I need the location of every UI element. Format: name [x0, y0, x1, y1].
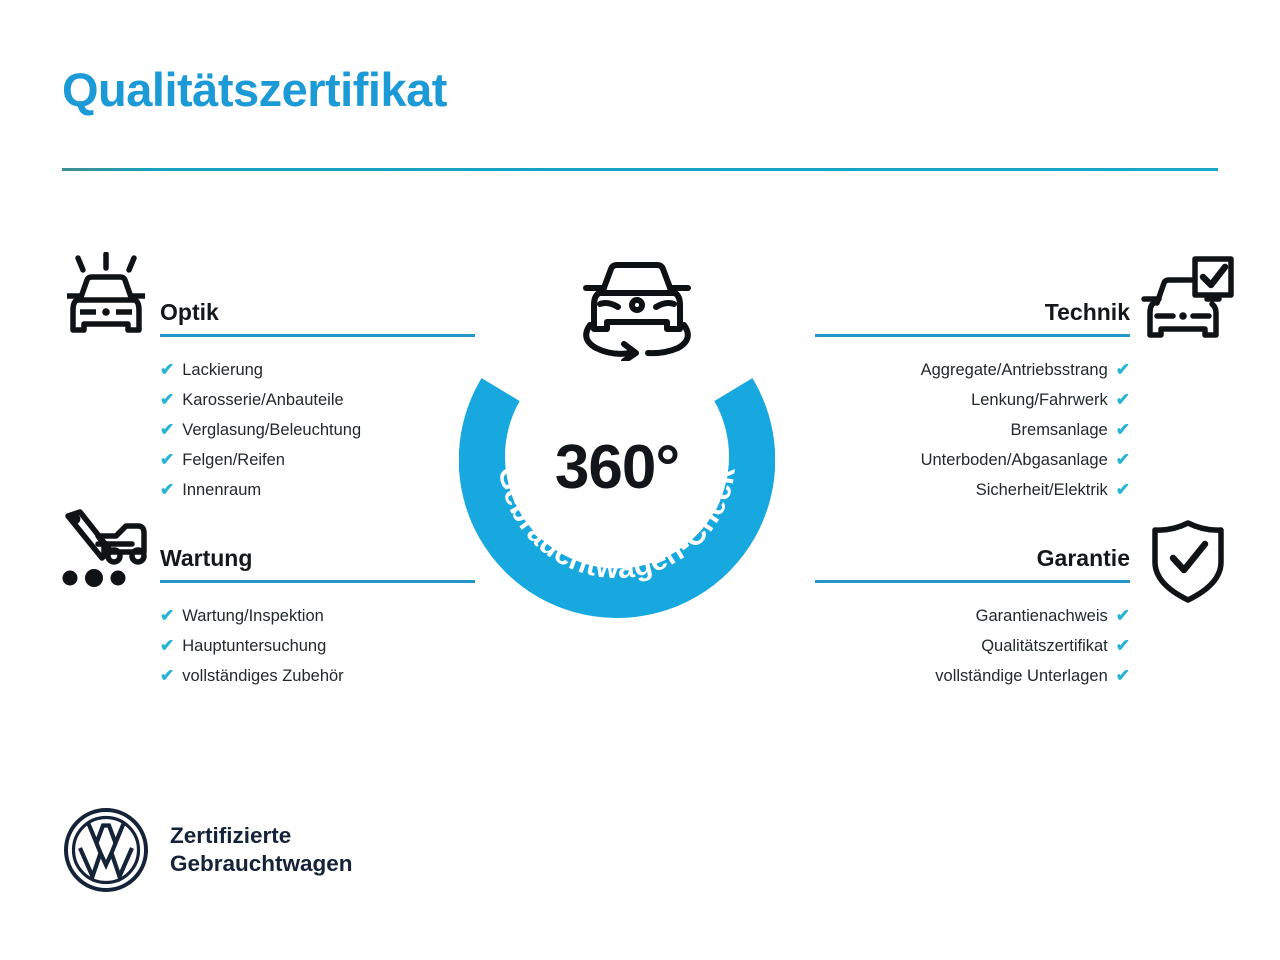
list-item-label: Hauptuntersuchung	[182, 631, 326, 661]
list-item-label: Felgen/Reifen	[182, 445, 285, 475]
check-icon: ✔	[1116, 601, 1130, 631]
check-icon: ✔	[160, 475, 174, 505]
list-item-label: Unterboden/Abgasanlage	[921, 445, 1108, 475]
section-divider	[815, 334, 1130, 337]
section-optik: Optik ✔Lackierung ✔Karosserie/Anbauteile…	[160, 300, 475, 521]
check-icon: ✔	[1116, 415, 1130, 445]
list-item: ✔Lackierung	[160, 355, 475, 385]
footer-brand-text: Zertifizierte Gebrauchtwagen	[170, 822, 353, 878]
check-icon: ✔	[1116, 445, 1130, 475]
list-item: ✔Karosserie/Anbauteile	[160, 385, 475, 415]
section-technik: Technik Aggregate/Antriebsstrang✔ Lenkun…	[815, 300, 1130, 521]
list-item: ✔vollständiges Zubehör	[160, 661, 475, 691]
list-item: Aggregate/Antriebsstrang✔	[815, 355, 1130, 385]
section-divider	[160, 334, 475, 337]
list-item-label: Innenraum	[182, 475, 261, 505]
list-item: ✔Verglasung/Beleuchtung	[160, 415, 475, 445]
car-checkbox-icon	[1139, 255, 1235, 352]
checklist-technik: Aggregate/Antriebsstrang✔ Lenkung/Fahrwe…	[815, 355, 1130, 505]
list-item: Garantienachweis✔	[815, 601, 1130, 631]
check-icon: ✔	[160, 631, 174, 661]
footer-brand: Zertifizierte Gebrauchtwagen	[62, 806, 150, 899]
volkswagen-logo	[62, 806, 150, 894]
list-item: Lenkung/Fahrwerk✔	[815, 385, 1130, 415]
section-heading: Garantie	[815, 546, 1130, 571]
checklist-optik: ✔Lackierung ✔Karosserie/Anbauteile ✔Verg…	[160, 355, 475, 505]
list-item-label: Karosserie/Anbauteile	[182, 385, 343, 415]
checklist-wartung: ✔Wartung/Inspektion ✔Hauptuntersuchung ✔…	[160, 601, 475, 691]
list-item: ✔Innenraum	[160, 475, 475, 505]
list-item-label: vollständige Unterlagen	[935, 661, 1107, 691]
check-icon: ✔	[1116, 661, 1130, 691]
shield-check-icon	[1148, 518, 1228, 611]
list-item-label: Garantienachweis	[976, 601, 1108, 631]
list-item-label: Verglasung/Beleuchtung	[182, 415, 361, 445]
footer-brand-line2: Gebrauchtwagen	[170, 850, 353, 878]
list-item-label: Lenkung/Fahrwerk	[971, 385, 1108, 415]
check-icon: ✔	[160, 355, 174, 385]
list-item: Bremsanlage✔	[815, 415, 1130, 445]
list-item-label: Wartung/Inspektion	[182, 601, 324, 631]
car-service-wrench-icon	[58, 508, 154, 601]
check-icon: ✔	[160, 661, 174, 691]
check-icon: ✔	[1116, 385, 1130, 415]
list-item: ✔Wartung/Inspektion	[160, 601, 475, 631]
footer-brand-line1: Zertifizierte	[170, 822, 353, 850]
list-item: Sicherheit/Elektrik✔	[815, 475, 1130, 505]
section-heading: Optik	[160, 300, 475, 325]
title-divider	[62, 168, 1218, 171]
list-item-label: Bremsanlage	[1011, 415, 1108, 445]
checklist-garantie: Garantienachweis✔ Qualitätszertifikat✔ v…	[815, 601, 1130, 691]
list-item-label: Lackierung	[182, 355, 263, 385]
section-heading: Wartung	[160, 546, 475, 571]
section-divider	[160, 580, 475, 583]
check-icon: ✔	[160, 385, 174, 415]
list-item-label: Sicherheit/Elektrik	[976, 475, 1108, 505]
check-icon: ✔	[160, 415, 174, 445]
section-heading: Technik	[815, 300, 1130, 325]
car-shine-icon	[58, 252, 154, 349]
list-item-label: vollständiges Zubehör	[182, 661, 343, 691]
check-icon: ✔	[1116, 631, 1130, 661]
check-icon: ✔	[160, 445, 174, 475]
list-item: Qualitätszertifikat✔	[815, 631, 1130, 661]
check-icon: ✔	[1116, 355, 1130, 385]
list-item: vollständige Unterlagen✔	[815, 661, 1130, 691]
check-icon: ✔	[1116, 475, 1130, 505]
list-item: ✔Felgen/Reifen	[160, 445, 475, 475]
car-rotate-360-icon	[568, 249, 706, 361]
list-item: ✔Hauptuntersuchung	[160, 631, 475, 661]
section-divider	[815, 580, 1130, 583]
list-item: Unterboden/Abgasanlage✔	[815, 445, 1130, 475]
section-wartung: Wartung ✔Wartung/Inspektion ✔Hauptunters…	[160, 546, 475, 707]
page-title: Qualitätszertifikat	[62, 62, 447, 117]
section-garantie: Garantie Garantienachweis✔ Qualitätszert…	[815, 546, 1130, 707]
list-item-label: Qualitätszertifikat	[981, 631, 1108, 661]
check-icon: ✔	[160, 601, 174, 631]
list-item-label: Aggregate/Antriebsstrang	[921, 355, 1108, 385]
